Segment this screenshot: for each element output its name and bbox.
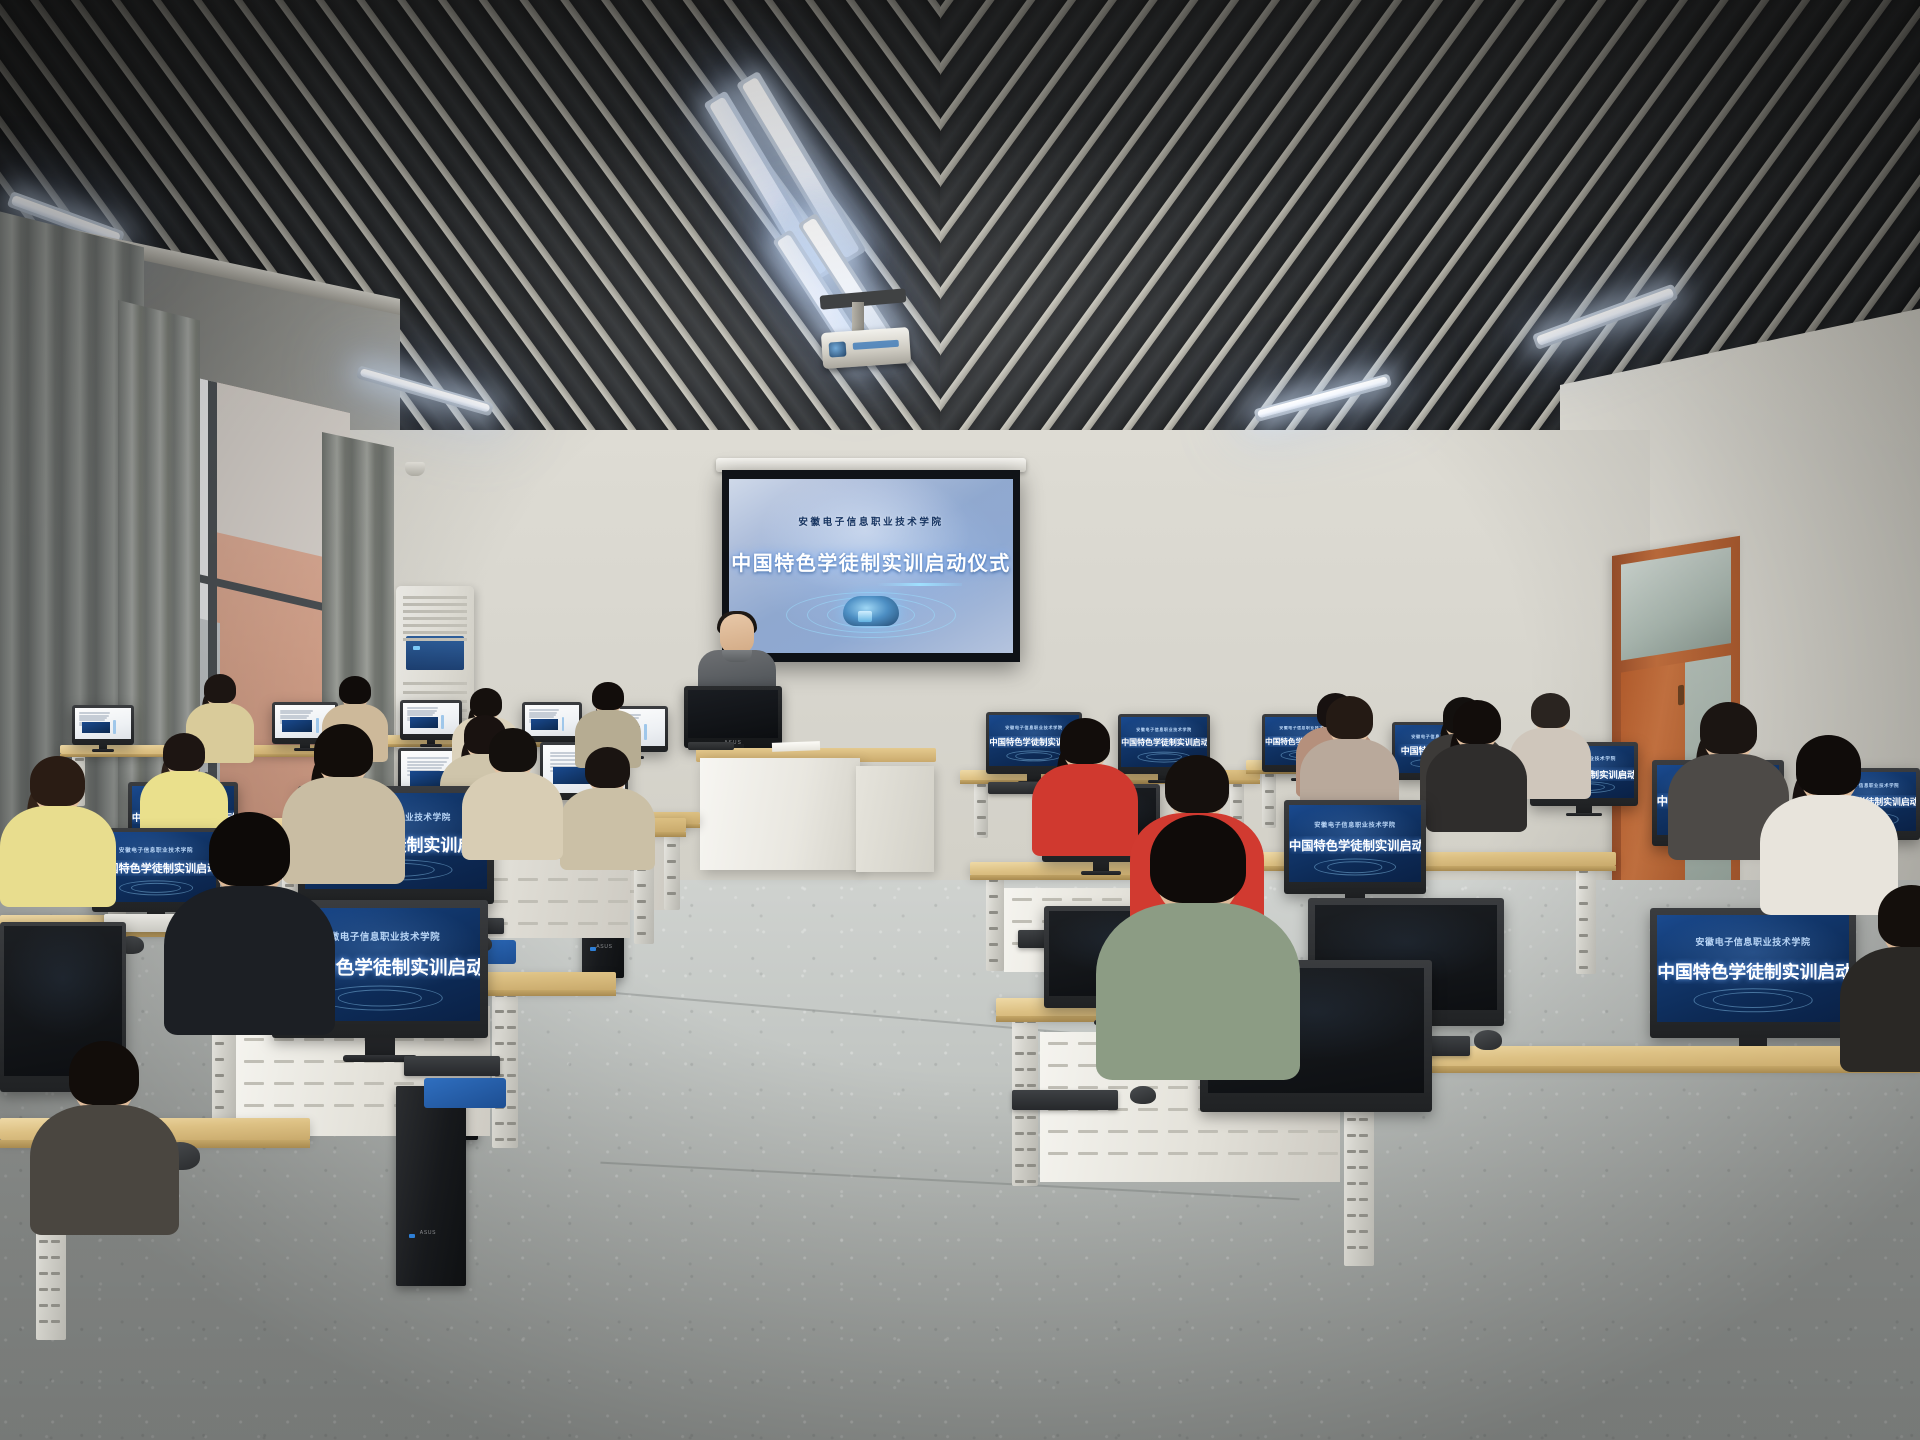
- student-front-left-1-hair: [209, 812, 290, 886]
- student-left-mid-1-torso: [282, 777, 405, 885]
- student-right-mid-2-hair: [1326, 696, 1373, 739]
- mousepad-left-r1b: [424, 1078, 506, 1108]
- desk-left-r3-leg: [664, 824, 680, 910]
- student-right-front-2-torso: [1840, 947, 1920, 1072]
- projector-label-strip: [853, 340, 899, 350]
- monitor-right-front-1-screen: 安徽电子信息职业技术学院 中国特色学徒制实训启动仪式: [1657, 915, 1849, 1021]
- monitor-slide-title: 中国特色学徒制实训启动仪式: [1121, 737, 1207, 748]
- student-right-mid-4-hair: [1700, 702, 1757, 755]
- student-right-near-2-torso: [1760, 795, 1898, 915]
- monitor-slide-title: 中国特色学徒制实训启动仪式: [1657, 958, 1849, 984]
- student-left-r2-2-hair: [489, 728, 537, 772]
- student-left-near-2-hair: [69, 1041, 139, 1106]
- door-transom-glass: [1621, 547, 1731, 660]
- student-right-mid-1-hair: [1060, 718, 1110, 764]
- student-front-right-1-torso: [1096, 903, 1300, 1081]
- monitor-left-far-1[interactable]: [72, 705, 134, 745]
- door-handle[interactable]: [1678, 685, 1684, 706]
- student-left-near-1-torso: [0, 806, 116, 907]
- monitor-left-far-4-screen: [525, 705, 579, 736]
- monitor-right-near-2-screen: 安徽电子信息职业技术学院 中国特色学徒制实训启动仪式: [1289, 805, 1421, 882]
- student-right-mid-3-hair: [1453, 700, 1501, 744]
- monitor-right-mid-1-base: [1081, 871, 1121, 875]
- podium-side-cabinet: [856, 766, 934, 872]
- monitor-left-far-2-base: [294, 748, 316, 751]
- student-left-far-1-hair: [204, 674, 236, 704]
- keyboard-left-r1b[interactable]: [404, 1056, 500, 1076]
- desk-right-mid-leg: [986, 875, 1004, 971]
- monitor-left-far-3-base: [420, 744, 441, 747]
- pc-tower-left-r3-brand: ASUS: [596, 944, 612, 950]
- vr-headset-icon: [843, 596, 899, 626]
- monitor-slide-subtitle: 安徽电子信息职业技术学院: [1657, 935, 1849, 948]
- student-left-r2-3-hair: [585, 747, 630, 788]
- student-left-far-4-hair: [592, 682, 623, 711]
- pc-tower-left-r3-power-led: [590, 947, 596, 951]
- student-left-far-3-hair: [470, 688, 502, 718]
- desk-right-far-leg: [974, 780, 988, 838]
- monitor-slide-title: 中国特色学徒制实训启动仪式: [1289, 836, 1421, 854]
- classroom-scene: 安徽电子信息职业技术学院 中国特色学徒制实训启动仪式: [0, 0, 1920, 1440]
- mouse-right-near[interactable]: [1130, 1086, 1156, 1104]
- podium-papers: [772, 741, 820, 752]
- monitor-right-front-1[interactable]: 安徽电子信息职业技术学院 中国特色学徒制实训启动仪式: [1650, 908, 1856, 1038]
- student-left-near-1-hair: [30, 756, 85, 806]
- monitor-right-near-2[interactable]: 安徽电子信息职业技术学院 中国特色学徒制实训启动仪式: [1284, 800, 1426, 894]
- slide-subtitle: 安徽电子信息职业技术学院: [729, 514, 1013, 528]
- student-front-right-1-hair: [1150, 815, 1246, 904]
- pc-tower-left-r1-brand: ASUS: [420, 1230, 436, 1236]
- student-left-r2-1-hair: [163, 733, 205, 771]
- slide-title: 中国特色学徒制实训启动仪式: [729, 547, 1013, 576]
- desk-right-mid2-leg: [1576, 866, 1596, 974]
- ac-status-led: [413, 646, 420, 650]
- student-right-near-2-hair: [1796, 735, 1861, 795]
- slide-accent-rule: [877, 583, 962, 586]
- podium-cabinet: [700, 758, 860, 870]
- student-right-near-1-hair: [1165, 755, 1228, 813]
- instructor-head: [720, 614, 754, 654]
- projector-lens: [829, 341, 847, 357]
- podium-monitor[interactable]: ASUS: [684, 686, 782, 748]
- ac-display-panel: [406, 636, 464, 670]
- student-left-r2-2-torso: [462, 772, 563, 860]
- pc-tower-left-r1[interactable]: ASUS: [396, 1086, 466, 1286]
- monitor-slide-subtitle: 安徽电子信息职业技术学院: [1289, 820, 1421, 829]
- student-left-mid-1-hair: [314, 724, 372, 778]
- desk-right-far2-leg: [1262, 770, 1276, 828]
- student-left-far-2-hair: [339, 676, 370, 705]
- mouse-right-front[interactable]: [1474, 1030, 1502, 1050]
- student-front-left-1-torso: [164, 886, 335, 1035]
- security-camera: [405, 462, 425, 476]
- podium-keyboard[interactable]: [688, 742, 734, 750]
- pc-tower-left-r1-power-led: [409, 1234, 415, 1238]
- monitor-left-far-3-screen: [403, 703, 459, 734]
- student-left-near-2-torso: [30, 1105, 179, 1235]
- ceiling-projector: [821, 327, 911, 369]
- student-right-far-3-hair: [1531, 693, 1569, 728]
- monitor-right-far-5-base: [1566, 813, 1603, 816]
- instructor-collar: [722, 650, 752, 662]
- monitor-left-far-1-base: [92, 749, 113, 752]
- monitor-slide-subtitle: 安徽电子信息职业技术学院: [1121, 727, 1207, 733]
- keyboard-right-near[interactable]: [1012, 1090, 1118, 1110]
- podium-monitor-screen: [688, 690, 778, 738]
- student-right-mid-1-torso: [1032, 764, 1138, 856]
- student-left-r2-3-torso: [560, 788, 655, 871]
- student-right-mid-3-torso: [1426, 744, 1527, 832]
- monitor-left-far-1-screen: [75, 708, 131, 739]
